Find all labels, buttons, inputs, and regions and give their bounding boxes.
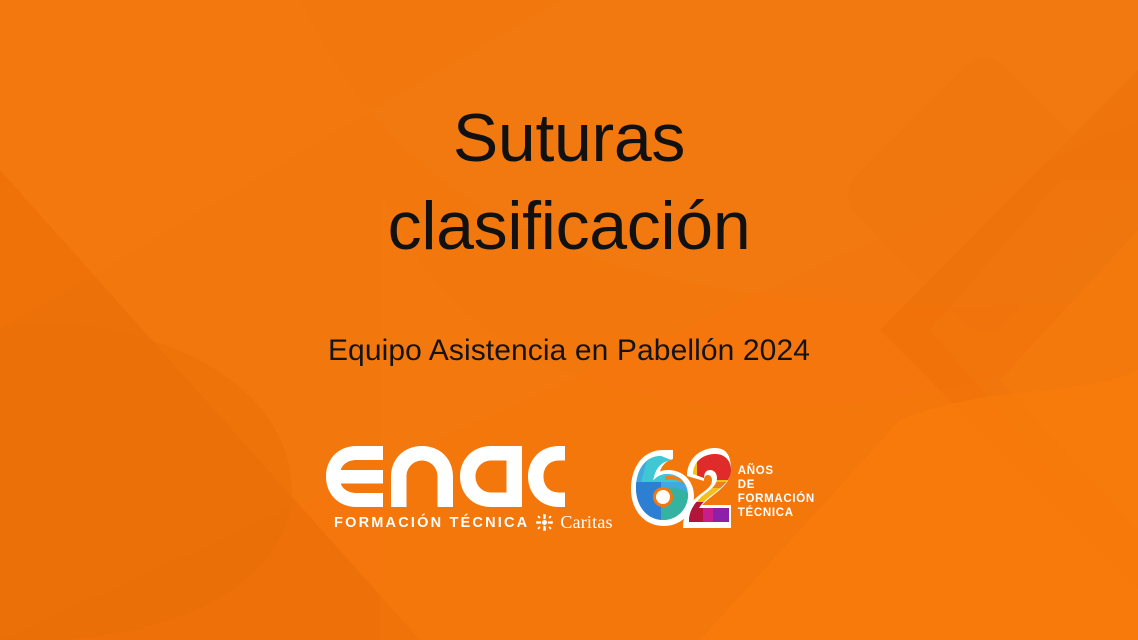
presentation-slide: Suturas clasificación Equipo Asistencia …	[0, 0, 1138, 640]
anniversary-62-icon	[631, 448, 731, 536]
title-line-1: Suturas	[0, 104, 1138, 172]
anniversary-caption: AÑOS DE FORMACIÓN TÉCNICA	[738, 464, 815, 520]
title-line-2: clasificación	[0, 192, 1138, 260]
caritas-cross-icon	[535, 513, 554, 532]
anniversary-line-4: TÉCNICA	[738, 506, 815, 520]
anniversary-line-1: AÑOS	[738, 464, 815, 478]
caritas-label: Caritas	[560, 512, 612, 533]
page-title: Suturas clasificación	[0, 104, 1138, 260]
enac-tagline: FORMACIÓN TÉCNICA	[334, 515, 529, 531]
slide-subtitle: Equipo Asistencia en Pabellón 2024	[0, 334, 1138, 368]
anniversary-line-2: DE	[738, 478, 815, 492]
background-decoration	[0, 0, 1138, 640]
anniversary-logo: AÑOS DE FORMACIÓN TÉCNICA	[631, 443, 815, 536]
enac-wordmark-icon	[323, 443, 568, 509]
logo-lockup: FORMACIÓN TÉCNICA Caritas	[0, 443, 1138, 536]
enac-logo: FORMACIÓN TÉCNICA Caritas	[323, 443, 613, 533]
enac-tagline-row: FORMACIÓN TÉCNICA Caritas	[323, 512, 613, 533]
anniversary-line-3: FORMACIÓN	[738, 492, 815, 506]
